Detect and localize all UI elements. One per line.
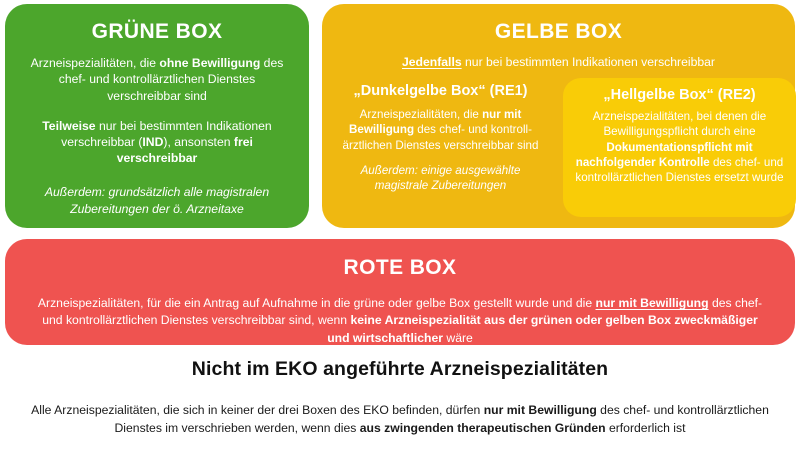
red-p-bold-1: keine Arzneispezialität aus der grünen o… bbox=[327, 313, 758, 344]
light-yellow-paragraph-1: Arzneispezialitäten, bei denen die Bewil… bbox=[575, 109, 784, 186]
red-box-title: ROTE BOX bbox=[31, 256, 769, 279]
green-box-paragraph-3: Außerdem: grundsätzlich alle magistralen… bbox=[23, 184, 291, 216]
red-p-pre: Arzneispezialitäten, für die ein Antrag … bbox=[38, 296, 596, 310]
yellow-box-columns: „Dunkelgelbe Box“ (RE1) Arzneispezialitä… bbox=[330, 83, 787, 194]
yellow-subtitle-underlined: Jedenfalls bbox=[402, 55, 462, 69]
dark-yellow-box-title: „Dunkelgelbe Box“ (RE1) bbox=[334, 83, 547, 100]
yellow-box: GELBE BOX Jedenfalls nur bei bestimmten … bbox=[322, 4, 795, 228]
footer-text-bold-1: nur mit Bewilligung bbox=[484, 403, 597, 417]
light-yellow-box-re2: „Hellgelbe Box“ (RE2) Arzneispezialitäte… bbox=[563, 78, 796, 217]
light-yellow-box-title: „Hellgelbe Box“ (RE2) bbox=[575, 87, 784, 104]
footer-heading: Nicht im EKO angeführte Arzneispezialitä… bbox=[14, 358, 786, 381]
green-p2-bold-1: Teilweise bbox=[42, 119, 95, 133]
yellow-subtitle-rest: nur bei bestimmten Indikationen verschre… bbox=[462, 55, 715, 69]
red-box-paragraph: Arzneispezialitäten, für die ein Antrag … bbox=[31, 295, 769, 347]
green-p1-pre: Arzneispezialitäten, die bbox=[31, 56, 160, 70]
green-p2-bold-2: IND bbox=[142, 135, 163, 149]
yellow-box-title: GELBE BOX bbox=[330, 20, 787, 43]
dark-yellow-box-re1: „Dunkelgelbe Box“ (RE1) Arzneispezialitä… bbox=[330, 83, 551, 194]
green-p2-mid-2: ), ansonsten bbox=[163, 135, 233, 149]
dark-yellow-paragraph-2: Außerdem: einige ausgewählte magistrale … bbox=[334, 163, 547, 194]
footer-text-post: erforderlich ist bbox=[606, 421, 686, 435]
footer-text-bold-2: aus zwingenden therapeutischen Gründen bbox=[360, 421, 606, 435]
green-box: GRÜNE BOX Arzneispezialitäten, die ohne … bbox=[5, 4, 309, 228]
footer-text: Alle Arzneispezialitäten, die sich in ke… bbox=[14, 401, 786, 438]
yellow-box-subtitle: Jedenfalls nur bei bestimmten Indikation… bbox=[330, 55, 787, 69]
green-box-title: GRÜNE BOX bbox=[19, 20, 295, 43]
footer-section: Nicht im EKO angeführte Arzneispezialitä… bbox=[0, 358, 800, 438]
red-p-post: wäre bbox=[443, 331, 473, 345]
green-box-paragraph-2: Teilweise nur bei bestimmten Indikatione… bbox=[23, 118, 291, 167]
footer-text-pre: Alle Arzneispezialitäten, die sich in ke… bbox=[31, 403, 484, 417]
red-box: ROTE BOX Arzneispezialitäten, für die ei… bbox=[5, 239, 795, 345]
green-p1-bold: ohne Bewilligung bbox=[159, 56, 260, 70]
eko-boxes-diagram: GRÜNE BOX Arzneispezialitäten, die ohne … bbox=[0, 0, 800, 449]
red-p-underlined-bold: nur mit Bewilligung bbox=[596, 296, 709, 310]
dark-yellow-p1-pre: Arzneispezialitäten, die bbox=[360, 108, 482, 121]
dark-yellow-paragraph-1: Arzneispezialitäten, die nur mit Bewilli… bbox=[334, 107, 547, 153]
green-box-paragraph-1: Arzneispezialitäten, die ohne Bewilligun… bbox=[23, 55, 291, 104]
light-yellow-p1-pre: Arzneispezialitäten, bei denen die Bewil… bbox=[593, 110, 766, 138]
